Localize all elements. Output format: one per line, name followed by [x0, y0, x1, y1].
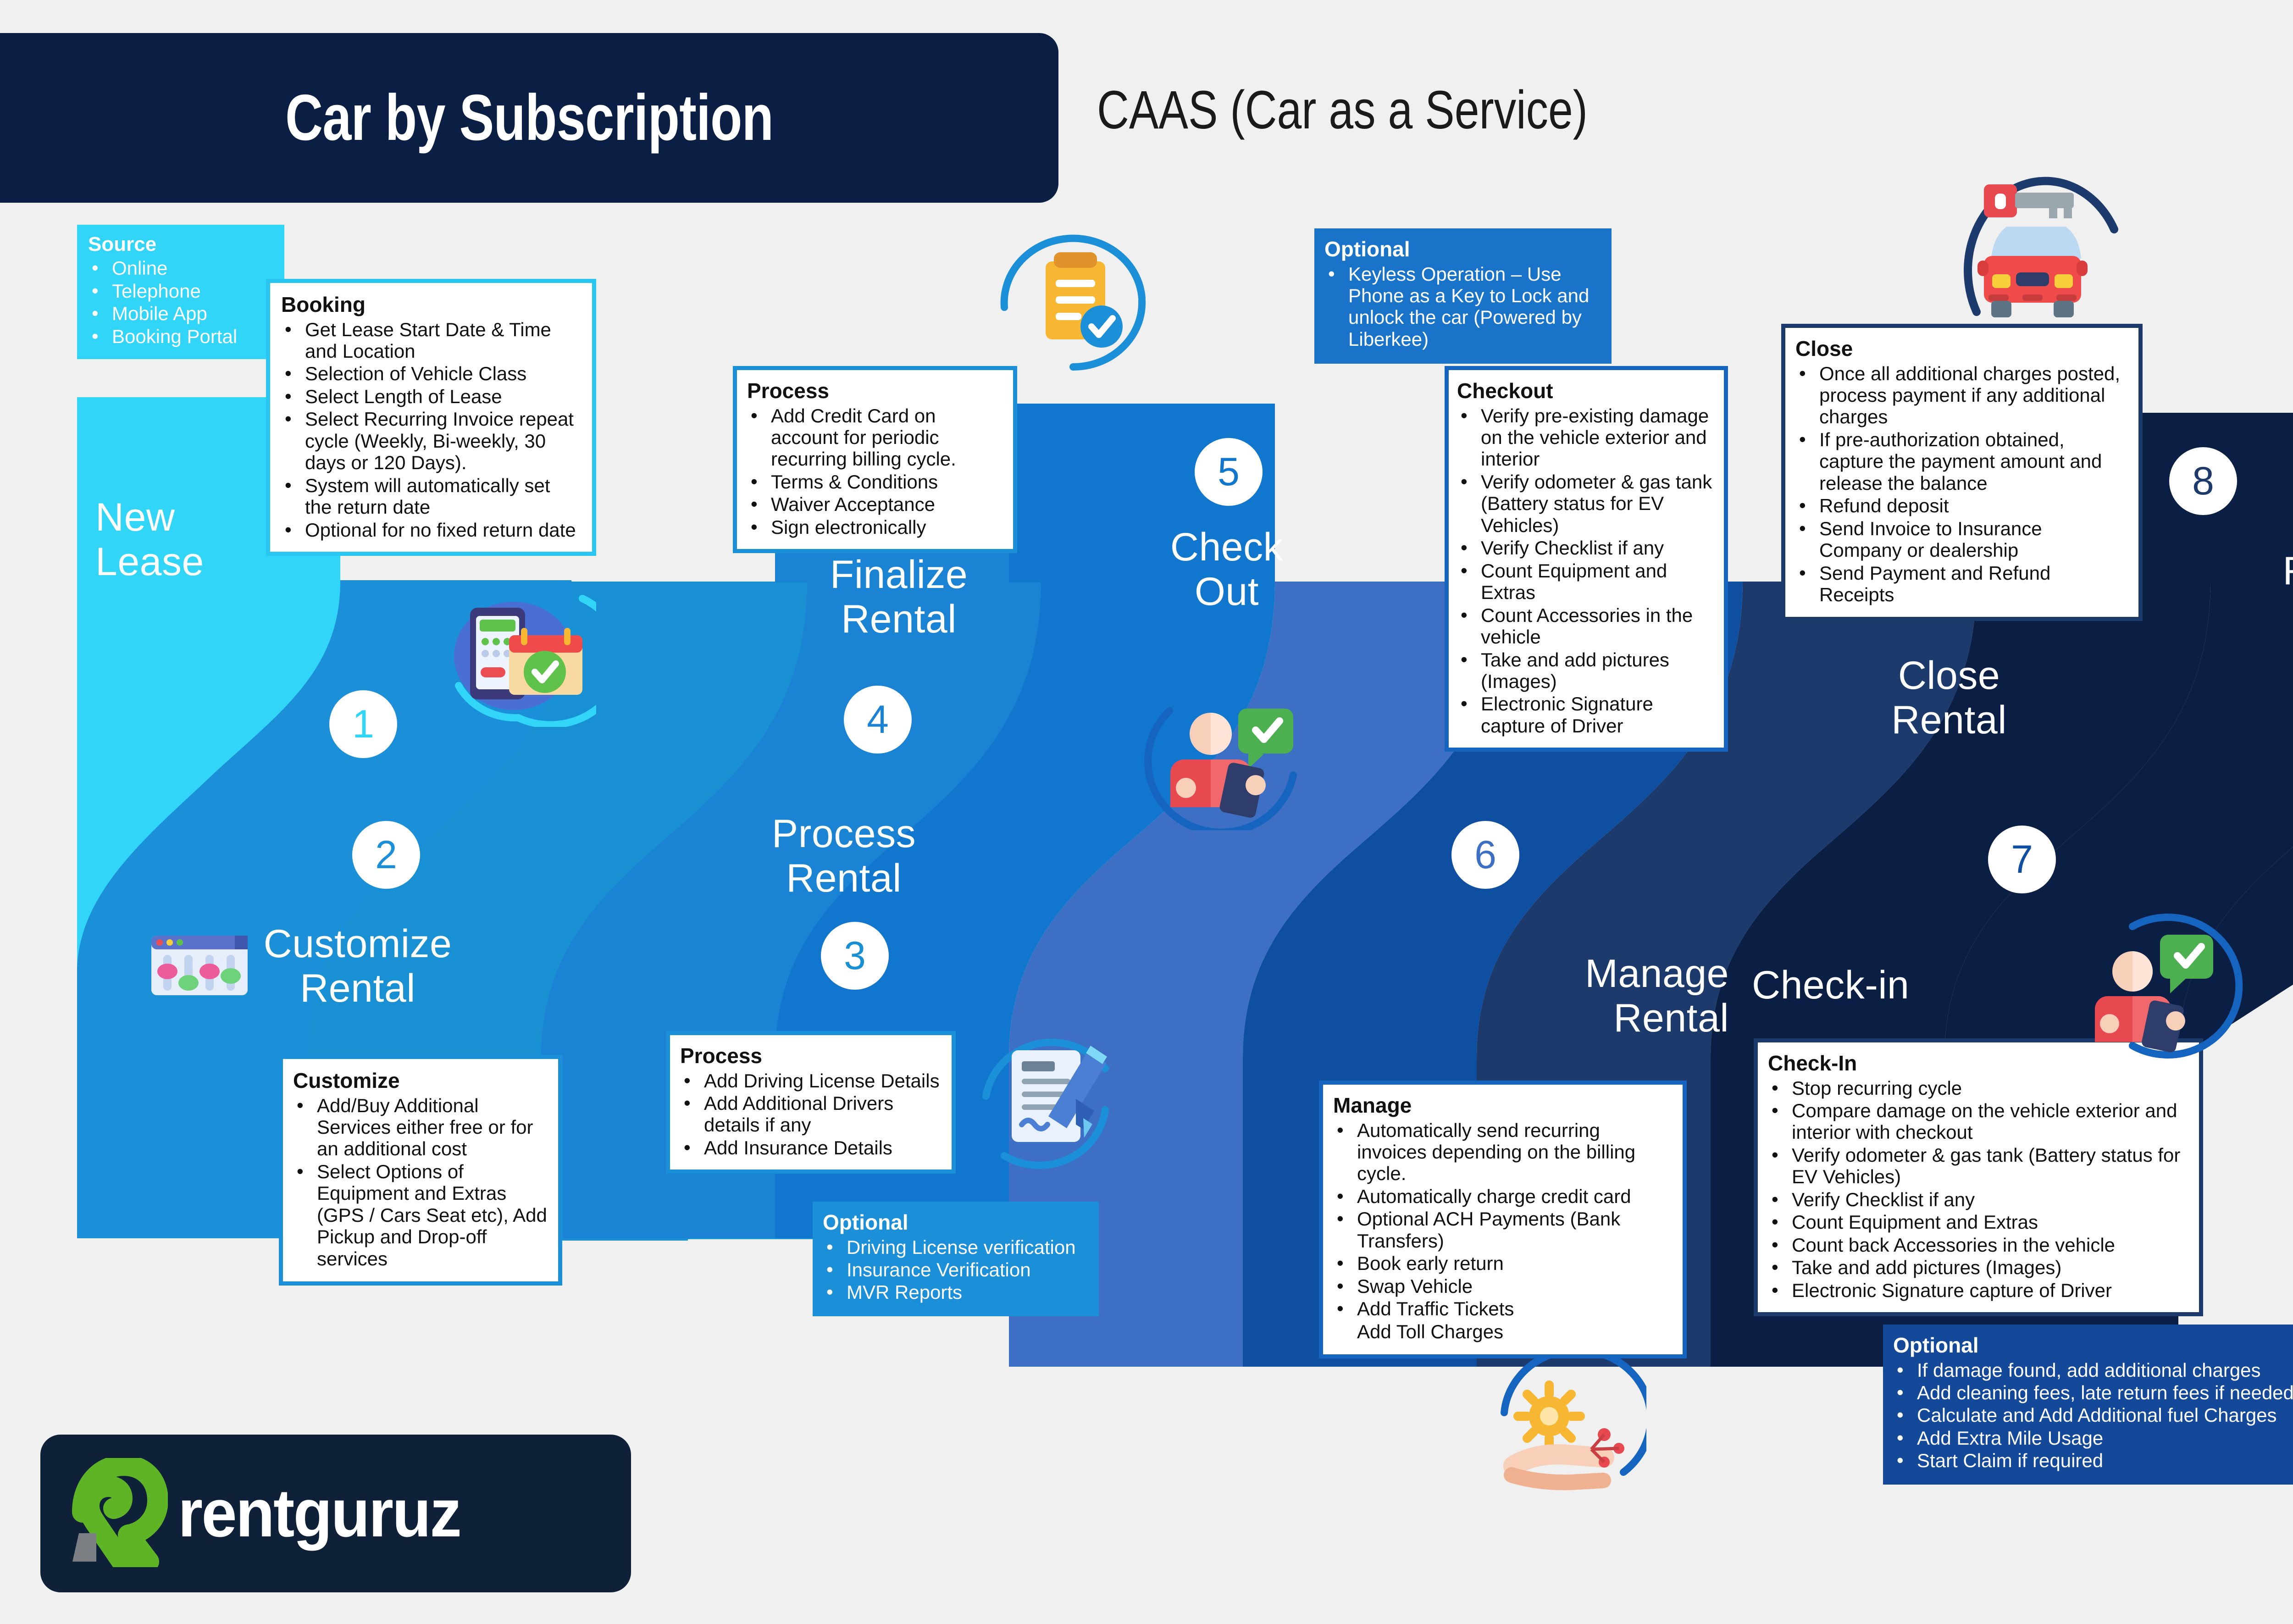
- box-source: Source Online Telephone Mobile App Booki…: [77, 225, 284, 359]
- box-booking-title: Booking: [281, 293, 582, 317]
- infographic-canvas: Car by Subscription CAAS (Car as a Servi…: [0, 0, 2293, 1624]
- step-number-7: 7: [1988, 826, 2056, 893]
- list-item: Swap Vehicle: [1333, 1275, 1673, 1297]
- list-item: Verify pre-existing damage on the vehicl…: [1457, 405, 1716, 470]
- step-label-4: Finalize Rental: [798, 553, 1000, 642]
- list-item: Verify odometer & gas tank (Battery stat…: [1768, 1144, 2190, 1188]
- list-item: Select Length of Lease: [281, 386, 582, 407]
- box-customize-title: Customize: [293, 1069, 548, 1093]
- list-item: Keyless Operation – Use Phone as a Key t…: [1324, 263, 1602, 350]
- list-item: Online: [88, 257, 275, 279]
- step-number-1: 1: [329, 690, 397, 758]
- box-checkout: Checkout Verify pre-existing damage on t…: [1445, 366, 1728, 752]
- list-item: Add Extra Mile Usage: [1893, 1427, 2293, 1449]
- list-item: Once all additional charges posted, proc…: [1795, 363, 2129, 428]
- list-item: Get Lease Start Date & Time and Location: [281, 319, 582, 362]
- list-item: Add Traffic Tickets: [1333, 1298, 1673, 1319]
- list-item: Calculate and Add Additional fuel Charge…: [1893, 1404, 2293, 1426]
- box-optional-checkin: Optional If damage found, add additional…: [1883, 1325, 2293, 1485]
- list-item: Driving License verification: [823, 1236, 1090, 1258]
- step-label-1: New Lease: [95, 495, 288, 584]
- step-label-5: Check Out: [1126, 525, 1328, 614]
- list-item: Terms & Conditions: [747, 471, 1004, 493]
- box-optional-checkin-title: Optional: [1893, 1334, 2293, 1358]
- list-item: Add Insurance Details: [680, 1137, 942, 1158]
- list-item: Optional for no fixed return date: [281, 519, 582, 541]
- person-chat-approve-icon: [1142, 665, 1316, 830]
- list-item: Send Payment and Refund Receipts: [1795, 562, 2129, 606]
- box-checkin-list: Stop recurring cycle Compare damage on t…: [1768, 1077, 2190, 1302]
- list-item: Add Additional Drivers details if any: [680, 1092, 942, 1136]
- list-item: Verify Checklist if any: [1457, 537, 1716, 559]
- list-item: If damage found, add additional charges: [1893, 1359, 2293, 1381]
- box-manage-title: Manage: [1333, 1094, 1673, 1118]
- box-optional-process: Optional Driving License verification In…: [813, 1202, 1099, 1316]
- box-booking-list: Get Lease Start Date & Time and Location…: [281, 319, 582, 541]
- list-item: Stop recurring cycle: [1768, 1077, 2190, 1099]
- list-item: Count Accessories in the vehicle: [1457, 604, 1716, 648]
- step-label-close-rental: Close Rental: [1848, 654, 2050, 743]
- brand-logo: rentguruz: [40, 1435, 631, 1592]
- box-optional-keyless-title: Optional: [1324, 238, 1602, 261]
- settings-sliders-icon: [115, 890, 271, 1036]
- list-item: Verify Checklist if any: [1768, 1189, 2190, 1210]
- box-optional-keyless: Optional Keyless Operation – Use Phone a…: [1314, 228, 1612, 364]
- box-checkout-list: Verify pre-existing damage on the vehicl…: [1457, 405, 1716, 737]
- step-label-3: Process Rental: [743, 812, 945, 901]
- list-item: Mobile App: [88, 303, 275, 324]
- list-item: Automatically charge credit card: [1333, 1186, 1673, 1207]
- box-source-title: Source: [88, 233, 275, 255]
- list-item: If pre-authorization obtained, capture t…: [1795, 429, 2129, 494]
- list-item: Count Equipment and Extras: [1768, 1211, 2190, 1233]
- box-manage: Manage Automatically send recurring invo…: [1319, 1081, 1687, 1358]
- box-optional-keyless-list: Keyless Operation – Use Phone as a Key t…: [1324, 263, 1602, 350]
- list-item: Add Driving License Details: [680, 1070, 942, 1092]
- step-label-6: Manage Rental: [1527, 952, 1729, 1041]
- box-source-list: Online Telephone Mobile App Booking Port…: [88, 257, 275, 347]
- list-item: Verify odometer & gas tank (Battery stat…: [1457, 471, 1716, 536]
- list-item: Start Claim if required: [1893, 1450, 2293, 1471]
- box-manage-list: Automatically send recurring invoices de…: [1333, 1120, 1673, 1343]
- list-item: Sign electronically: [747, 516, 1004, 538]
- list-item: Add Toll Charges: [1333, 1321, 1673, 1342]
- list-item: Add/Buy Additional Services either free …: [293, 1095, 548, 1160]
- list-item: Add Credit Card on account for periodic …: [747, 405, 1004, 470]
- box-process-rental-title: Process: [680, 1044, 942, 1068]
- list-item: Select Options of Equipment and Extras (…: [293, 1161, 548, 1269]
- brand-logo-text: rentguruz: [178, 1474, 460, 1552]
- list-item: Take and add pictures (Images): [1457, 649, 1716, 693]
- rentguruz-mark-icon: [68, 1458, 168, 1569]
- list-item: Compare damage on the vehicle exterior a…: [1768, 1100, 2190, 1143]
- step-label-2: Customize Rental: [257, 922, 459, 1011]
- list-item: Select Recurring Invoice repeat cycle (W…: [281, 408, 582, 473]
- list-item: Electronic Signature capture of Driver: [1768, 1280, 2190, 1301]
- step-number-5: 5: [1195, 438, 1263, 506]
- hand-gear-icon: [1481, 1358, 1646, 1513]
- page-subtitle: CAAS (Car as a Service): [1097, 79, 1588, 141]
- calendar-phone-icon: [426, 580, 596, 727]
- box-close-title: Close: [1795, 337, 2129, 361]
- step-label-9: Post Review: [2247, 504, 2293, 593]
- list-item: Book early return: [1333, 1253, 1673, 1274]
- list-item: Add cleaning fees, late return fees if n…: [1893, 1382, 2293, 1403]
- step-label-7: Check-in: [1752, 963, 1990, 1008]
- list-item: Electronic Signature capture of Driver: [1457, 693, 1716, 737]
- list-item: Optional ACH Payments (Bank Transfers): [1333, 1208, 1673, 1252]
- list-item: Count back Accessories in the vehicle: [1768, 1234, 2190, 1256]
- list-item: Count Equipment and Extras: [1457, 560, 1716, 604]
- list-item: Waiver Acceptance: [747, 493, 1004, 515]
- box-optional-process-list: Driving License verification Insurance V…: [823, 1236, 1090, 1303]
- box-optional-process-title: Optional: [823, 1211, 1090, 1235]
- list-item: Telephone: [88, 280, 275, 302]
- page-title: Car by Subscription: [285, 80, 773, 155]
- box-process-finalize: Process Add Credit Card on account for p…: [733, 366, 1017, 553]
- step-number-8: 8: [2169, 447, 2237, 515]
- box-process-finalize-list: Add Credit Card on account for periodic …: [747, 405, 1004, 538]
- box-customize-list: Add/Buy Additional Services either free …: [293, 1095, 548, 1270]
- car-key-icon: [1958, 161, 2142, 339]
- document-pen-icon: [968, 1023, 1124, 1174]
- step-number-3: 3: [821, 922, 889, 990]
- step-number-2: 2: [352, 821, 420, 889]
- list-item: Insurance Verification: [823, 1259, 1090, 1280]
- box-close-list: Once all additional charges posted, proc…: [1795, 363, 2129, 606]
- step-number-6: 6: [1451, 821, 1519, 889]
- list-item: Selection of Vehicle Class: [281, 363, 582, 384]
- header-banner: Car by Subscription: [0, 33, 1058, 203]
- list-item: Booking Portal: [88, 326, 275, 347]
- list-item: Take and add pictures (Images): [1768, 1257, 2190, 1278]
- box-process-finalize-title: Process: [747, 379, 1004, 403]
- box-checkout-title: Checkout: [1457, 379, 1716, 403]
- list-item: MVR Reports: [823, 1281, 1090, 1303]
- box-customize: Customize Add/Buy Additional Services ei…: [279, 1055, 562, 1286]
- box-close: Close Once all additional charges posted…: [1781, 324, 2143, 621]
- list-item: Refund deposit: [1795, 495, 2129, 516]
- box-process-rental: Process Add Driving License Details Add …: [666, 1031, 956, 1174]
- box-booking: Booking Get Lease Start Date & Time and …: [266, 279, 596, 556]
- list-item: System will automatically set the return…: [281, 475, 582, 518]
- list-item: Automatically send recurring invoices de…: [1333, 1120, 1673, 1185]
- list-item: Send Invoice to Insurance Company or dea…: [1795, 518, 2129, 561]
- step-number-4: 4: [844, 686, 912, 754]
- box-process-rental-list: Add Driving License Details Add Addition…: [680, 1070, 942, 1159]
- box-checkin: Check-In Stop recurring cycle Compare da…: [1754, 1038, 2203, 1316]
- clipboard-check-icon: [986, 229, 1160, 381]
- box-optional-checkin-list: If damage found, add additional charges …: [1893, 1359, 2293, 1472]
- person-chat-approve-icon-2: [2082, 908, 2247, 1064]
